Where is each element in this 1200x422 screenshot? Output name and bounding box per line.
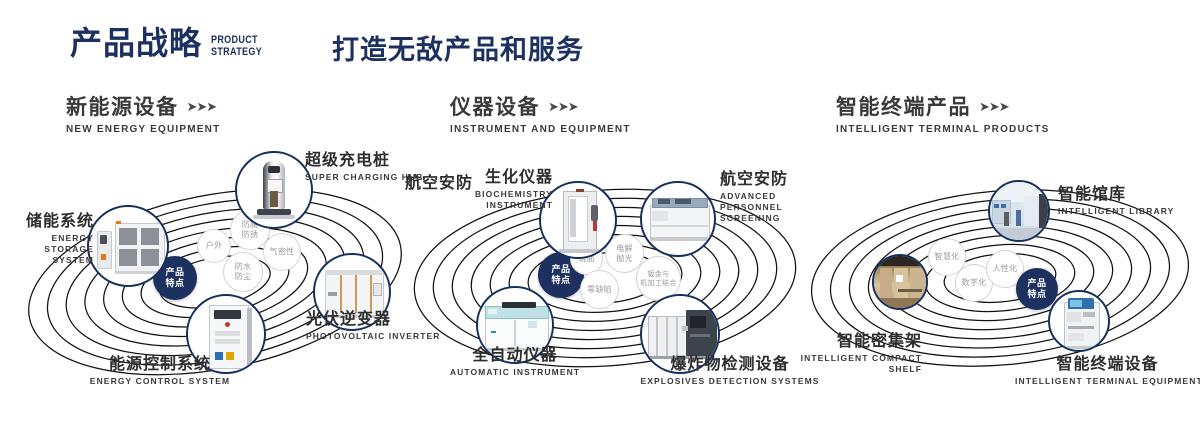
page-title: 产品战略	[70, 26, 202, 60]
self-service-kiosk-icon	[1050, 292, 1108, 350]
screening-machine-icon	[642, 183, 714, 255]
label-cn: 智能馆库	[1058, 185, 1174, 204]
diagram-intelligent-terminal: 智慧化 数字化 人性化 产品 特点 智能馆库 INTELLIGENT LIBRA…	[800, 150, 1200, 410]
label-cn: 储能系统	[2, 212, 94, 231]
energy-storage-cabinet-icon	[89, 207, 167, 285]
section-title-cn: 新能源设备➤➤➤	[66, 95, 220, 120]
label-energy-storage: 储能系统 ENERGY STORAGE SYSTEM	[2, 212, 94, 266]
chevrons-icon: ➤➤➤	[979, 95, 1009, 119]
label-energy-control: 能源控制系统 ENERGY CONTROL SYSTEM	[65, 355, 255, 387]
label-en: INTELLIGENT TERMINAL EQUIPMENT	[1015, 376, 1200, 387]
feature-bubble-outdoor: 户外	[197, 229, 231, 263]
diagram-instrument: 产品 特点 镜面 电解 抛光 零缺陷 钣金与 机加工结合 生化仪器 BIOCHE…	[400, 150, 820, 410]
chevrons-icon: ➤➤➤	[548, 95, 578, 119]
label-cn: 能源控制系统	[65, 355, 255, 374]
node-intelligent-library[interactable]	[988, 180, 1050, 242]
feature-bubble-label: 人性化	[993, 264, 1018, 274]
section-title-intelligent-terminal: 智能终端产品➤➤➤ INTELLIGENT TERMINAL PRODUCTS	[836, 95, 1050, 135]
poster-canvas: 产品战略 PRODUCT STRATEGY 打造无敌产品和服务 新能源设备➤➤➤…	[0, 0, 1200, 422]
core-bubble-label: 产品 特点	[1027, 278, 1046, 300]
feature-bubble-label: 零缺陷	[587, 285, 612, 295]
compact-shelf-photo-icon	[874, 256, 926, 308]
label-cn: 智能终端设备	[1015, 355, 1200, 374]
label-en: ENERGY STORAGE SYSTEM	[2, 233, 94, 266]
label-intelligent-library: 智能馆库 INTELLIGENT LIBRARY	[1058, 185, 1174, 217]
charging-pile-icon	[237, 153, 311, 227]
section-title-instrument: 仪器设备➤➤➤ INSTRUMENT AND EQUIPMENT	[450, 95, 631, 135]
core-bubble-label: 产品 特点	[551, 264, 570, 286]
label-en: AUTOMATIC INSTRUMENT	[420, 367, 610, 378]
label-intelligent-compact-shelf: 智能密集架 INTELLIGENT COMPACT SHELF	[762, 332, 922, 375]
feature-bubble-label: 智慧化	[935, 252, 960, 262]
label-en: INTELLIGENT LIBRARY	[1058, 206, 1174, 217]
node-energy-storage[interactable]	[87, 205, 169, 287]
label-cn: 航空安防	[405, 174, 473, 193]
feature-bubble-label: 电解 抛光	[616, 244, 633, 264]
feature-bubble-label: 钣金与 机加工结合	[640, 270, 677, 288]
page-title-en: PRODUCT STRATEGY	[211, 35, 262, 58]
section-title-cn-text: 新能源设备	[66, 96, 179, 119]
label-cn: 全自动仪器	[420, 346, 610, 365]
label-cn: 智能密集架	[762, 332, 922, 351]
feature-bubble-label: 气密性	[270, 247, 295, 257]
node-charging-pile[interactable]	[235, 151, 313, 229]
feature-bubble-label: 数字化	[962, 278, 987, 288]
section-title-cn-text: 智能终端产品	[836, 96, 971, 119]
poster-header: 产品战略 PRODUCT STRATEGY	[70, 26, 273, 60]
label-automatic-instrument: 全自动仪器 AUTOMATIC INSTRUMENT	[420, 346, 610, 378]
section-title-cn: 智能终端产品➤➤➤	[836, 95, 1050, 120]
label-intelligent-terminal-equipment: 智能终端设备 INTELLIGENT TERMINAL EQUIPMENT	[1015, 355, 1200, 387]
section-title-new-energy: 新能源设备➤➤➤ NEW ENERGY EQUIPMENT	[66, 95, 220, 135]
feature-bubble-label: 户外	[206, 241, 223, 251]
feature-bubble-waterproof: 防水 防尘	[223, 252, 263, 292]
core-bubble-label: 产品 特点	[165, 267, 184, 289]
section-title-cn-text: 仪器设备	[450, 96, 540, 119]
diagram-new-energy: 产品 特点 户外 防腐 防锈 防水 防尘 气密性 储能系统 ENERGY STO…	[10, 150, 430, 410]
library-room-photo-icon	[990, 182, 1048, 240]
feature-bubble-zerodefect: 零缺陷	[580, 270, 619, 309]
page-subtitle: 打造无敌产品和服务	[332, 34, 584, 66]
node-intelligent-terminal-equipment[interactable]	[1048, 290, 1110, 352]
label-en: INTELLIGENT COMPACT SHELF	[762, 353, 922, 375]
node-intelligent-compact-shelf[interactable]	[872, 254, 928, 310]
label-en: ENERGY CONTROL SYSTEM	[65, 376, 255, 387]
label-aviation-security-left: 航空安防	[405, 174, 473, 193]
section-title-en: NEW ENERGY EQUIPMENT	[66, 124, 220, 135]
node-advanced-screening[interactable]	[640, 181, 716, 257]
chevrons-icon: ➤➤➤	[187, 95, 217, 119]
section-title-en: INSTRUMENT AND EQUIPMENT	[450, 124, 631, 135]
section-title-cn: 仪器设备➤➤➤	[450, 95, 631, 120]
feature-bubble-airtight: 气密性	[263, 233, 301, 271]
feature-bubble-label: 防水 防尘	[235, 262, 252, 282]
section-title-en: INTELLIGENT TERMINAL PRODUCTS	[836, 124, 1050, 135]
